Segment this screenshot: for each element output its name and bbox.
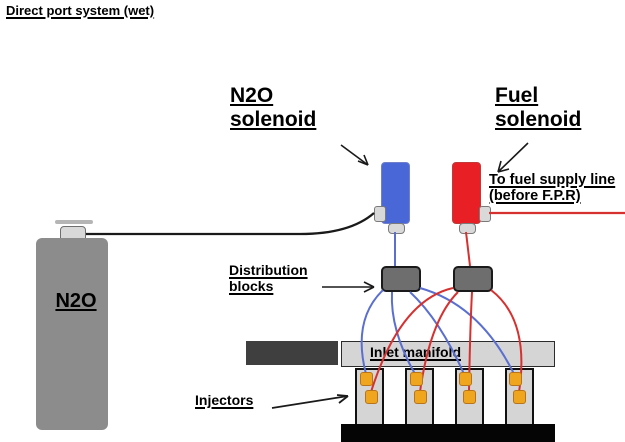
n2o-solenoid-label-line2: solenoid	[230, 108, 316, 132]
injector-nozzle-4-n2o	[509, 372, 522, 386]
n2o-feed-line-2	[392, 292, 415, 374]
injector-nozzle-4-fuel	[513, 390, 526, 404]
plumbing-lines	[0, 0, 625, 442]
injector-nozzle-2-fuel	[414, 390, 427, 404]
injector-nozzle-1-fuel	[365, 390, 378, 404]
injector-nozzle-3-fuel	[463, 390, 476, 404]
n2o-solenoid-label-line1: N2O	[230, 84, 316, 108]
distribution-blocks-label-line2: blocks	[229, 279, 308, 295]
fuel-solenoid-to-block-line	[466, 232, 470, 266]
n2o-solenoid-arrow	[341, 145, 368, 165]
injectors-label: Injectors	[195, 393, 253, 409]
fuel-supply-label: To fuel supply line (before F.P.R)	[489, 172, 615, 204]
n2o-feed-line-1	[362, 290, 383, 374]
injectors-arrowhead	[337, 395, 348, 403]
injector-nozzle-1-n2o	[360, 372, 373, 386]
fuel-feed-line-2	[420, 292, 458, 392]
diagram-canvas: Direct port system (wet) N2O Inlet manif…	[0, 0, 625, 442]
injector-nozzle-3-n2o	[459, 372, 472, 386]
engine-block	[341, 424, 555, 442]
fuel-supply-label-line1: To fuel supply line	[489, 172, 615, 188]
distribution-blocks-label: Distribution blocks	[229, 263, 308, 294]
injectors-arrow	[272, 396, 348, 408]
fuel-supply-label-line2: (before F.P.R)	[489, 188, 615, 204]
fuel-solenoid-label-line1: Fuel	[495, 84, 581, 108]
fuel-solenoid-arrow	[498, 143, 528, 172]
n2o-solenoid-label: N2O solenoid	[230, 84, 316, 131]
distribution-blocks-label-line1: Distribution	[229, 263, 308, 279]
fuel-solenoid-label: Fuel solenoid	[495, 84, 581, 131]
n2o-supply-line	[86, 213, 374, 234]
fuel-solenoid-label-line2: solenoid	[495, 108, 581, 132]
injector-nozzle-2-n2o	[410, 372, 423, 386]
